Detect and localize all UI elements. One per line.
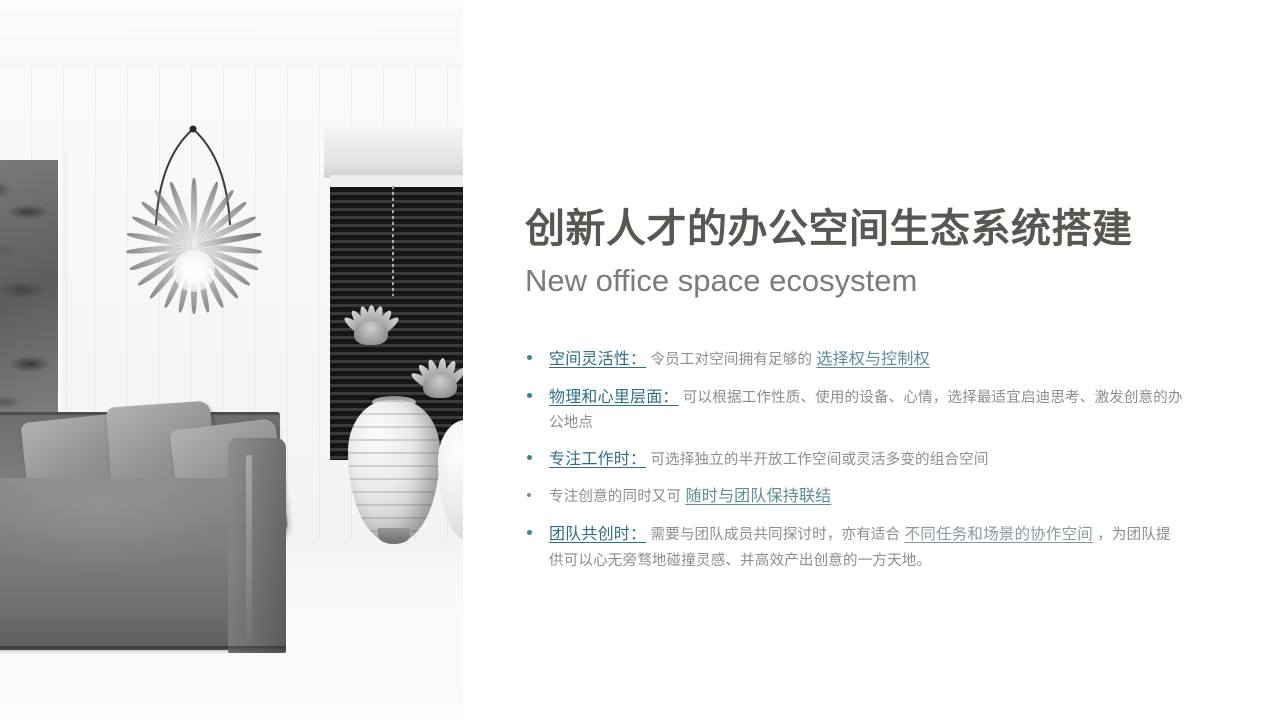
bullet-body: 令员工对空间拥有足够的 (650, 352, 812, 368)
bullet-dot-icon (527, 355, 532, 360)
bullet-key: 团队共创时： (549, 526, 646, 543)
bullet-highlight: 不同任务和场景的协作空间 (905, 526, 1093, 543)
bullet-body: 可选择独立的半开放工作空间或灵活多变的组合空间 (650, 452, 988, 468)
bullet-key: 专注工作时： (549, 451, 646, 468)
blinds-valance (324, 128, 463, 178)
staghorn-plant-lower (400, 318, 463, 398)
list-item: 专注工作时： 可选择独立的半开放工作空间或灵活多变的组合空间 (525, 446, 1185, 474)
content-column: 创新人才的办公空间生态系统搭建 New office space ecosyst… (525, 0, 1185, 720)
slide-root: 创新人才的办公空间生态系统搭建 New office space ecosyst… (0, 0, 1280, 720)
bullet-dot-icon (527, 455, 532, 460)
list-item: 空间灵活性： 令员工对空间拥有足够的 选择权与控制权 (525, 346, 1185, 374)
list-item: 物理和心里层面： 可以根据工作性质、使用的设备、心情，选择最适宜启迪思考、激发创… (525, 384, 1185, 436)
sofa-fabric-fold (246, 455, 252, 640)
page-title: 创新人才的办公空间生态系统搭建 (525, 207, 1133, 252)
bullet-key: 物理和心里层面： (549, 389, 679, 406)
bullet-body: 需要与团队成员共同探讨时，亦有适合 (650, 527, 900, 543)
bullet-list: 空间灵活性： 令员工对空间拥有足够的 选择权与控制权 物理和心里层面： 可以根据… (525, 346, 1185, 584)
bullet-dot-icon (527, 530, 532, 535)
page-subtitle: New office space ecosystem (525, 262, 917, 299)
sofa-armrest (228, 438, 286, 653)
photo-stage (0, 0, 463, 720)
wall-upper-band (0, 0, 463, 66)
hero-photo (0, 0, 463, 720)
bullet-highlight: 选择权与控制权 (816, 351, 929, 368)
wall-art-feathers (138, 210, 250, 350)
bullet-dot-icon (527, 493, 531, 497)
ceramic-pot-foot (378, 528, 410, 544)
sofa-ground-shadow (0, 646, 286, 654)
staghorn-plant-upper (336, 275, 406, 345)
list-item: 团队共创时： 需要与团队成员共同探讨时，亦有适合 不同任务和场景的协作空间 ，为… (525, 521, 1185, 574)
bullet-highlight: 随时与团队保持联结 (686, 488, 832, 505)
bullet-dot-icon (527, 393, 532, 398)
list-item: 专注创意的同时又可 随时与团队保持联结 (525, 483, 1185, 511)
bullet-body: 专注创意的同时又可 (549, 489, 681, 505)
bullet-key: 空间灵活性： (549, 351, 646, 368)
